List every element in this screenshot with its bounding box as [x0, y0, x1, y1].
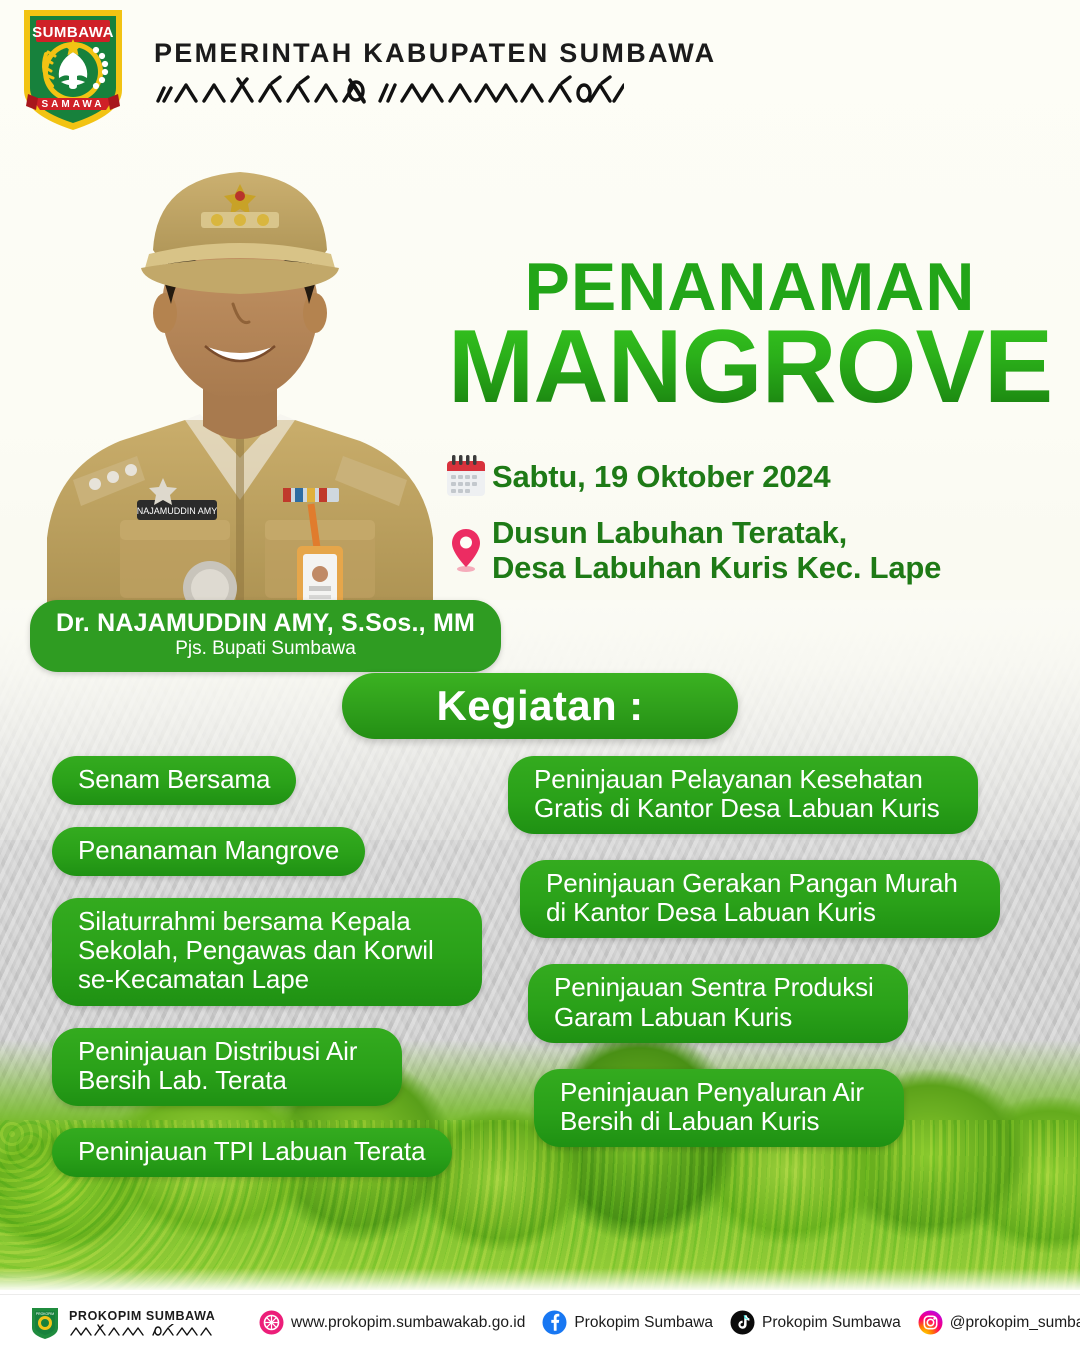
activity-item: Peninjauan Pelayanan Kesehatan Gratis di…	[508, 756, 978, 834]
prokopim-logo-icon: PROKOPIM	[30, 1306, 60, 1340]
footer-instagram-link[interactable]: @prokopim_sumbawa	[918, 1310, 1080, 1335]
activity-item: Peninjauan TPI Labuan Terata	[52, 1128, 452, 1177]
map-pin-icon	[440, 526, 492, 574]
event-info-block: Sabtu, 19 Oktober 2024 Dusun Labuhan Ter…	[440, 455, 941, 602]
hero-title-line2: MANGROVE	[430, 318, 1070, 418]
activities-heading: Kegiatan :	[436, 682, 643, 730]
footer-tiktok-link[interactable]: Prokopim Sumbawa	[730, 1310, 901, 1335]
poster-footer: PROKOPIM PROKOPIM SUMBAWA	[0, 1294, 1080, 1350]
activity-item: Peninjauan Distribusi Air Bersih Lab. Te…	[52, 1028, 402, 1106]
official-name: Dr. NAJAMUDDIN AMY, S.Sos., MM	[56, 609, 475, 637]
hero-title-block: PENANAMAN MANGROVE	[430, 255, 1070, 418]
poster-canvas: SUMBAWA SAMAWA PEMERINTAH KA	[0, 0, 1080, 1350]
tiktok-icon	[730, 1310, 755, 1335]
svg-text:SUMBAWA: SUMBAWA	[32, 24, 114, 41]
prokopim-script	[69, 1324, 219, 1337]
facebook-icon	[542, 1310, 567, 1335]
activity-item: Peninjauan Gerakan Pangan Murah di Kanto…	[520, 860, 1000, 938]
event-location-row: Dusun Labuhan Teratak, Desa Labuhan Kuri…	[440, 515, 941, 586]
activities-heading-pill: Kegiatan :	[342, 673, 738, 739]
footer-facebook-label: Prokopim Sumbawa	[574, 1314, 713, 1332]
event-location: Dusun Labuhan Teratak, Desa Labuhan Kuri…	[492, 515, 941, 586]
footer-facebook-link[interactable]: Prokopim Sumbawa	[542, 1310, 713, 1335]
official-role: Pjs. Bupati Sumbawa	[56, 638, 475, 661]
svg-text:NAJAMUDDIN AMY: NAJAMUDDIN AMY	[137, 506, 218, 516]
calendar-icon	[440, 455, 492, 499]
instagram-icon	[918, 1310, 943, 1335]
event-date-row: Sabtu, 19 Oktober 2024	[440, 455, 941, 499]
official-name-badge: Dr. NAJAMUDDIN AMY, S.Sos., MM Pjs. Bupa…	[30, 600, 501, 672]
poster-header: SUMBAWA SAMAWA PEMERINTAH KA	[0, 0, 1080, 140]
event-location-line2: Desa Labuhan Kuris Kec. Lape	[492, 550, 941, 585]
activity-item: Senam Bersama	[52, 756, 296, 805]
footer-website-label: www.prokopim.sumbawakab.go.id	[291, 1314, 525, 1332]
sumbawa-crest-icon: SUMBAWA SAMAWA	[18, 6, 128, 134]
globe-icon	[259, 1310, 284, 1335]
activities-left-column: Senam Bersama Penanaman Mangrove Silatur…	[0, 756, 500, 1177]
satera-jontal-script	[154, 75, 716, 109]
svg-text:SAMAWA: SAMAWA	[42, 99, 105, 110]
event-date: Sabtu, 19 Oktober 2024	[492, 459, 830, 494]
activity-item: Silaturrahmi bersama Kepala Sekolah, Pen…	[52, 898, 482, 1005]
svg-text:PROKOPIM: PROKOPIM	[36, 1312, 54, 1316]
activity-item: Penanaman Mangrove	[52, 827, 365, 876]
footer-instagram-label: @prokopim_sumbawa	[950, 1314, 1080, 1332]
footer-tiktok-label: Prokopim Sumbawa	[762, 1314, 901, 1332]
prokopim-brand: PROKOPIM PROKOPIM SUMBAWA	[30, 1306, 219, 1340]
activities-right-column: Peninjauan Pelayanan Kesehatan Gratis di…	[500, 756, 1080, 1177]
event-location-line1: Dusun Labuhan Teratak,	[492, 515, 847, 550]
prokopim-brand-text: PROKOPIM SUMBAWA	[69, 1309, 219, 1337]
activity-item: Peninjauan Penyaluran Air Bersih di Labu…	[534, 1069, 904, 1147]
footer-social-links: www.prokopim.sumbawakab.go.id Prokopim S…	[259, 1310, 1080, 1335]
footer-website-link[interactable]: www.prokopim.sumbawakab.go.id	[259, 1310, 525, 1335]
government-title: PEMERINTAH KABUPATEN SUMBAWA	[154, 38, 716, 69]
prokopim-brand-name: PROKOPIM SUMBAWA	[69, 1309, 219, 1323]
header-title-block: PEMERINTAH KABUPATEN SUMBAWA	[154, 32, 716, 109]
activities-columns: Senam Bersama Penanaman Mangrove Silatur…	[0, 756, 1080, 1177]
background-bottom-fade	[0, 1268, 1080, 1294]
activity-item: Peninjauan Sentra Produksi Garam Labuan …	[528, 964, 908, 1042]
bupati-portrait-photo: NAJAMUDDIN AMY	[25, 108, 455, 638]
